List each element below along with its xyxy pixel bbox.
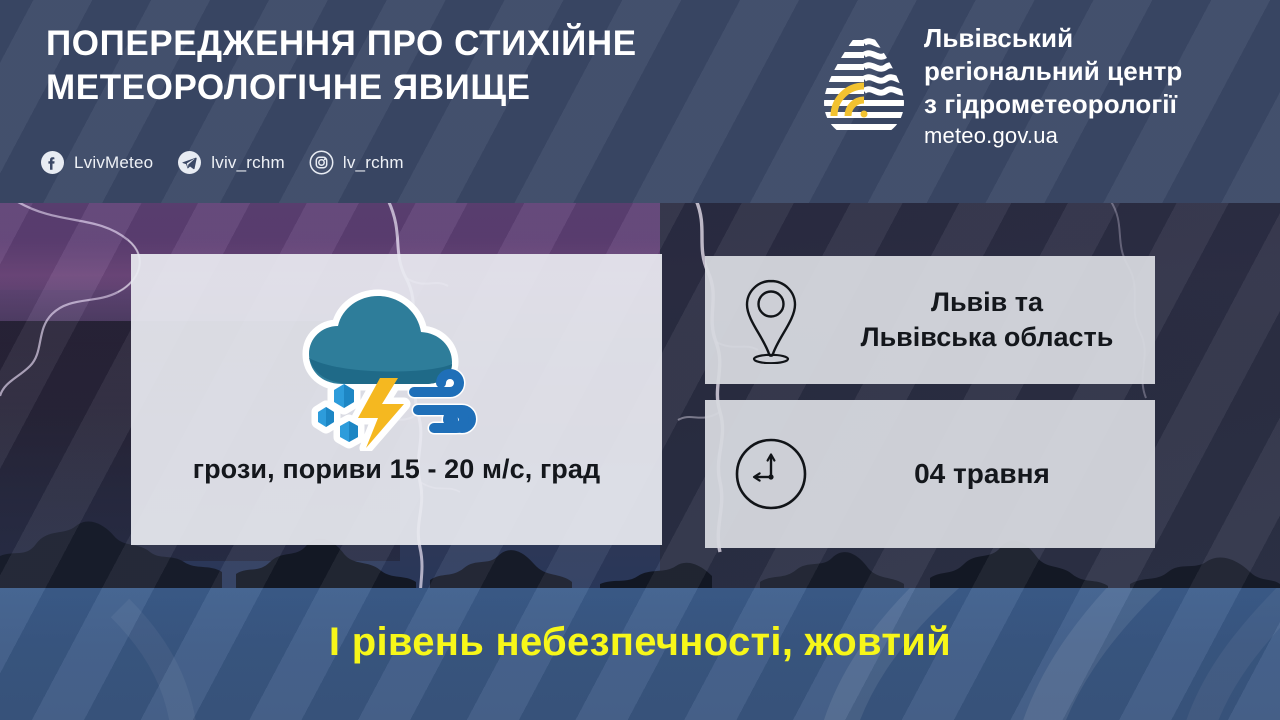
social-handle-instagram: lv_rchm — [343, 153, 404, 173]
social-handle-telegram: lviv_rchm — [211, 153, 285, 173]
social-handle-facebook: LvivMeteo — [74, 153, 153, 173]
page-title: ПОПЕРЕДЖЕННЯ ПРО СТИХІЙНЕ МЕТЕОРОЛОГІЧНЕ… — [46, 22, 806, 110]
page-title-line1: ПОПЕРЕДЖЕННЯ ПРО СТИХІЙНЕ — [46, 22, 806, 66]
weather-warning-infographic: ПОПЕРЕДЖЕННЯ ПРО СТИХІЙНЕ МЕТЕОРОЛОГІЧНЕ… — [0, 0, 1280, 720]
location-panel: Львів та Львівська область — [705, 256, 1155, 384]
telegram-icon — [177, 150, 202, 175]
location-line-1: Львів та — [837, 285, 1137, 320]
social-link-facebook[interactable]: LvivMeteo — [40, 150, 153, 175]
logo-line-2: регіональний центр — [924, 55, 1182, 88]
thunderstorm-wind-hail-icon — [282, 286, 512, 451]
page-title-line2: МЕТЕОРОЛОГІЧНЕ ЯВИЩЕ — [46, 66, 806, 110]
date-text: 04 травня — [837, 458, 1155, 490]
facebook-icon — [40, 150, 65, 175]
clock-icon — [733, 436, 809, 512]
logo-text-block: Львівський регіональний центр з гідромет… — [924, 22, 1182, 151]
social-link-telegram[interactable]: lviv_rchm — [177, 150, 285, 175]
organization-logo: Львівський регіональний центр з гідромет… — [818, 22, 1182, 151]
social-link-instagram[interactable]: lv_rchm — [309, 150, 404, 175]
location-line-2: Львівська область — [837, 320, 1137, 355]
map-pin-icon — [740, 276, 802, 364]
date-panel: 04 травня — [705, 400, 1155, 548]
logo-website-url: meteo.gov.ua — [924, 122, 1182, 151]
phenomena-text: грози, пориви 15 - 20 м/с, град — [131, 454, 662, 485]
date-icon-wrap — [705, 436, 837, 512]
instagram-icon — [309, 150, 334, 175]
location-icon-wrap — [705, 276, 837, 364]
header-bar: ПОПЕРЕДЖЕННЯ ПРО СТИХІЙНЕ МЕТЕОРОЛОГІЧНЕ… — [0, 0, 1280, 203]
social-links: LvivMeteo lviv_rchm lv_rchm — [40, 150, 428, 175]
location-text: Львів та Львівська область — [837, 285, 1155, 354]
phenomena-card: грози, пориви 15 - 20 м/с, град — [131, 254, 662, 545]
droplet-logo-icon — [818, 22, 910, 142]
logo-line-3: з гідрометеорології — [924, 88, 1182, 121]
danger-level-text: І рівень небезпечності, жовтий — [0, 620, 1280, 665]
logo-line-1: Львівський — [924, 22, 1182, 55]
